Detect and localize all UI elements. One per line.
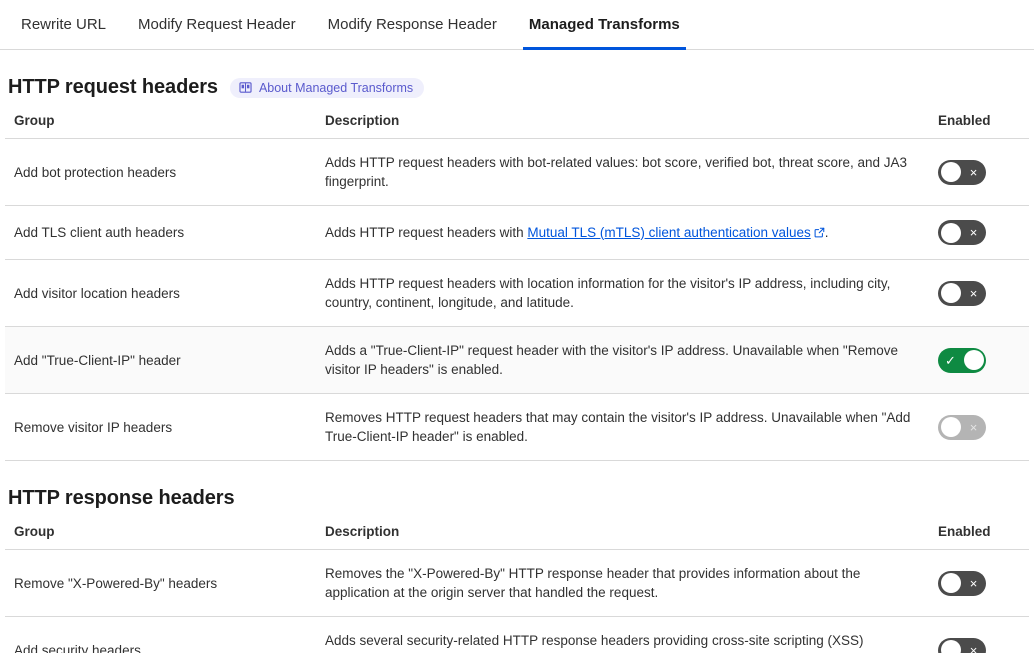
description-suffix: . bbox=[825, 225, 829, 240]
row-group-label: Add visitor location headers bbox=[5, 260, 325, 327]
toggle-cross-icon: × bbox=[961, 415, 986, 440]
toggle-remove-x-powered-by-headers[interactable]: × bbox=[938, 571, 986, 596]
row-enabled-cell: × bbox=[936, 394, 1029, 461]
row-description: Removes the "X-Powered-By" HTTP response… bbox=[325, 550, 936, 617]
toggle-knob bbox=[941, 162, 961, 182]
tab-modify-response-header[interactable]: Modify Response Header bbox=[312, 0, 513, 49]
toggle-cross-icon: × bbox=[961, 281, 986, 306]
tab-modify-request-header[interactable]: Modify Request Header bbox=[122, 0, 312, 49]
table-header-row: Group Description Enabled bbox=[5, 113, 1029, 139]
row-description: Adds a "True-Client-IP" request header w… bbox=[325, 327, 936, 394]
table-row: Remove visitor IP headers Removes HTTP r… bbox=[5, 394, 1029, 461]
row-group-label: Add "True-Client-IP" header bbox=[5, 327, 325, 394]
table-row: Add visitor location headers Adds HTTP r… bbox=[5, 260, 1029, 327]
tab-rewrite-url[interactable]: Rewrite URL bbox=[5, 0, 122, 49]
toggle-cross-icon: × bbox=[961, 160, 986, 185]
table-row: Add "True-Client-IP" header Adds a "True… bbox=[5, 327, 1029, 394]
table-row: Add security headers Adds several securi… bbox=[5, 617, 1029, 653]
row-description: Adds several security-related HTTP respo… bbox=[325, 617, 936, 653]
toggle-knob bbox=[941, 283, 961, 303]
table-row: Add bot protection headers Adds HTTP req… bbox=[5, 139, 1029, 206]
section-title-response: HTTP response headers bbox=[8, 487, 235, 510]
column-header-group: Group bbox=[5, 113, 325, 139]
section-header-response: HTTP response headers bbox=[5, 487, 1029, 510]
external-link-icon bbox=[814, 224, 825, 243]
row-enabled-cell: × bbox=[936, 550, 1029, 617]
toggle-knob bbox=[964, 350, 984, 370]
description-prefix: Adds HTTP request headers with bbox=[325, 225, 527, 240]
table-row: Add TLS client auth headers Adds HTTP re… bbox=[5, 206, 1029, 260]
row-description: Adds HTTP request headers with location … bbox=[325, 260, 936, 327]
row-enabled-cell: × bbox=[936, 139, 1029, 206]
toggle-add-visitor-location-headers[interactable]: × bbox=[938, 281, 986, 306]
toggle-add-bot-protection-headers[interactable]: × bbox=[938, 160, 986, 185]
row-group-label: Add TLS client auth headers bbox=[5, 206, 325, 260]
row-group-label: Remove visitor IP headers bbox=[5, 394, 325, 461]
table-header-row: Group Description Enabled bbox=[5, 524, 1029, 550]
row-description: Adds HTTP request headers with bot-relat… bbox=[325, 139, 936, 206]
column-header-description: Description bbox=[325, 524, 936, 550]
row-enabled-cell: × bbox=[936, 206, 1029, 260]
about-managed-transforms-badge[interactable]: About Managed Transforms bbox=[230, 78, 424, 98]
tab-managed-transforms[interactable]: Managed Transforms bbox=[513, 0, 696, 49]
page-title: HTTP request headers bbox=[8, 76, 218, 99]
section-header-request: HTTP request headers About Managed Trans… bbox=[5, 76, 1029, 99]
row-description: Adds HTTP request headers with Mutual TL… bbox=[325, 206, 936, 260]
toggle-knob bbox=[941, 417, 961, 437]
toggle-add-true-client-ip-header[interactable]: ✓ bbox=[938, 348, 986, 373]
row-group-label: Add security headers bbox=[5, 617, 325, 653]
badge-label: About Managed Transforms bbox=[259, 81, 413, 95]
table-row: Remove "X-Powered-By" headers Removes th… bbox=[5, 550, 1029, 617]
row-description: Removes HTTP request headers that may co… bbox=[325, 394, 936, 461]
row-enabled-cell: × bbox=[936, 617, 1029, 653]
column-header-enabled: Enabled bbox=[936, 524, 1029, 550]
column-header-description: Description bbox=[325, 113, 936, 139]
column-header-enabled: Enabled bbox=[936, 113, 1029, 139]
toggle-check-icon: ✓ bbox=[938, 348, 963, 373]
page-content: HTTP request headers About Managed Trans… bbox=[0, 76, 1034, 653]
toggle-cross-icon: × bbox=[961, 571, 986, 596]
column-header-group: Group bbox=[5, 524, 325, 550]
row-group-label: Add bot protection headers bbox=[5, 139, 325, 206]
row-enabled-cell: ✓ bbox=[936, 327, 1029, 394]
request-headers-table: Group Description Enabled Add bot protec… bbox=[5, 113, 1029, 461]
toggle-knob bbox=[941, 223, 961, 243]
mtls-docs-link[interactable]: Mutual TLS (mTLS) client authentication … bbox=[527, 225, 810, 240]
toggle-add-tls-client-auth-headers[interactable]: × bbox=[938, 220, 986, 245]
response-headers-table: Group Description Enabled Remove "X-Powe… bbox=[5, 524, 1029, 653]
toggle-add-security-headers[interactable]: × bbox=[938, 638, 986, 653]
book-icon bbox=[239, 81, 252, 94]
tab-bar: Rewrite URL Modify Request Header Modify… bbox=[0, 0, 1034, 50]
toggle-cross-icon: × bbox=[961, 638, 986, 653]
toggle-knob bbox=[941, 640, 961, 653]
row-group-label: Remove "X-Powered-By" headers bbox=[5, 550, 325, 617]
toggle-remove-visitor-ip-headers: × bbox=[938, 415, 986, 440]
toggle-knob bbox=[941, 573, 961, 593]
toggle-cross-icon: × bbox=[961, 220, 986, 245]
row-enabled-cell: × bbox=[936, 260, 1029, 327]
